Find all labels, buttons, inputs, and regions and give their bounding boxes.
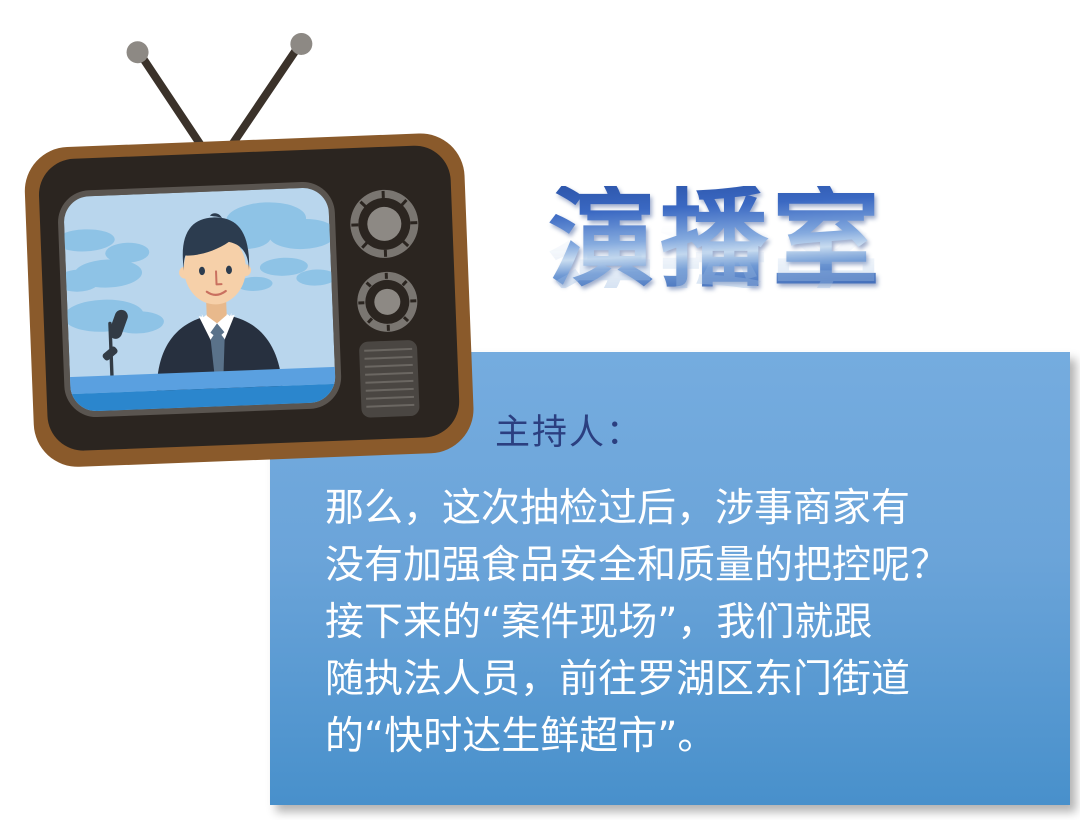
tv-screen — [53, 186, 351, 420]
retro-tv-illustration — [18, 22, 488, 482]
speaker-label: 主持人： — [495, 404, 643, 455]
speech-body-text: 那么，这次抽检过后，涉事商家有 没有加强食品安全和质量的把控呢？ 接下来的“案件… — [325, 480, 1040, 765]
tv-controls — [349, 189, 426, 418]
page-title: 演播室 — [548, 186, 884, 294]
page-title-reflection: 演播室 — [548, 180, 884, 288]
slide-canvas: 主持人： 那么，这次抽检过后，涉事商家有 没有加强食品安全和质量的把控呢？ 接下… — [0, 0, 1080, 820]
speaker-grille — [359, 340, 420, 418]
